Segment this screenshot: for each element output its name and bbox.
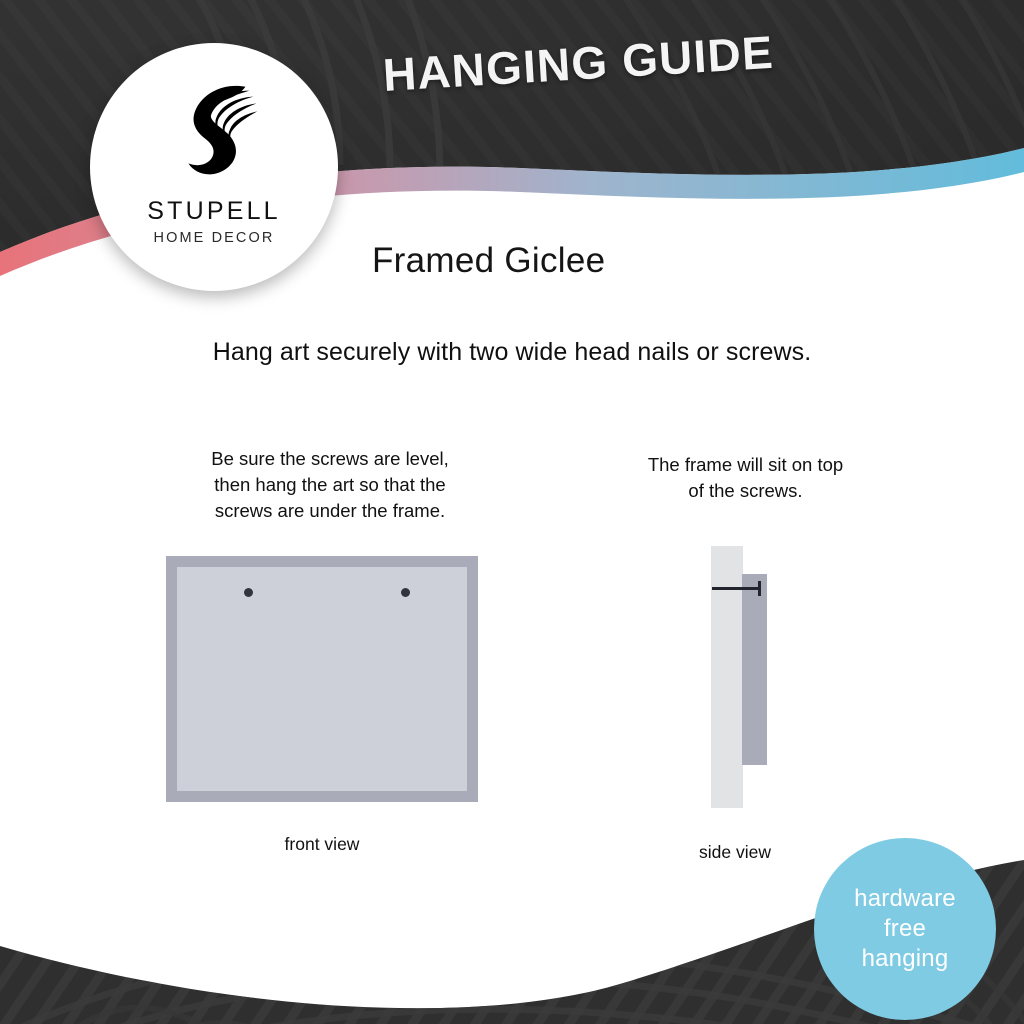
hanging-guide-page: STUPELL HOME DECOR HANGING GUIDE Framed …	[0, 0, 1024, 1024]
screw-shaft-icon	[712, 587, 761, 590]
badge-line-2: free	[884, 914, 926, 944]
product-name: Framed Giclee	[372, 241, 605, 281]
side-view-caption: The frame will sit on top of the screws.	[578, 452, 913, 504]
brand-name: STUPELL	[147, 197, 281, 226]
main-instruction-text: Hang art securely with two wide head nai…	[0, 338, 1024, 367]
front-view-label: front view	[166, 834, 478, 855]
screw-head-icon	[758, 581, 761, 596]
side-view-frame-diagram	[690, 540, 800, 820]
hardware-free-hanging-badge: hardware free hanging	[814, 838, 996, 1020]
badge-line-3: hanging	[862, 944, 949, 974]
stupell-swirl-logo-icon	[155, 71, 273, 189]
side-caption-line-2: of the screws.	[578, 478, 913, 504]
badge-line-1: hardware	[854, 884, 956, 914]
screw-dot-right-icon	[401, 588, 410, 597]
front-caption-line-1: Be sure the screws are level,	[130, 446, 530, 472]
front-view-caption: Be sure the screws are level, then hang …	[130, 446, 530, 524]
side-view-label: side view	[655, 842, 815, 863]
side-view-wall	[711, 546, 743, 808]
front-caption-line-2: then hang the art so that the	[130, 472, 530, 498]
brand-tagline: HOME DECOR	[154, 230, 275, 246]
screw-dot-left-icon	[244, 588, 253, 597]
front-view-frame-diagram	[166, 556, 478, 802]
side-caption-line-1: The frame will sit on top	[578, 452, 913, 478]
brand-logo-badge: STUPELL HOME DECOR	[90, 43, 338, 291]
front-caption-line-3: screws are under the frame.	[130, 498, 530, 524]
side-view-frame	[742, 574, 767, 765]
front-view-art-panel	[177, 567, 467, 791]
